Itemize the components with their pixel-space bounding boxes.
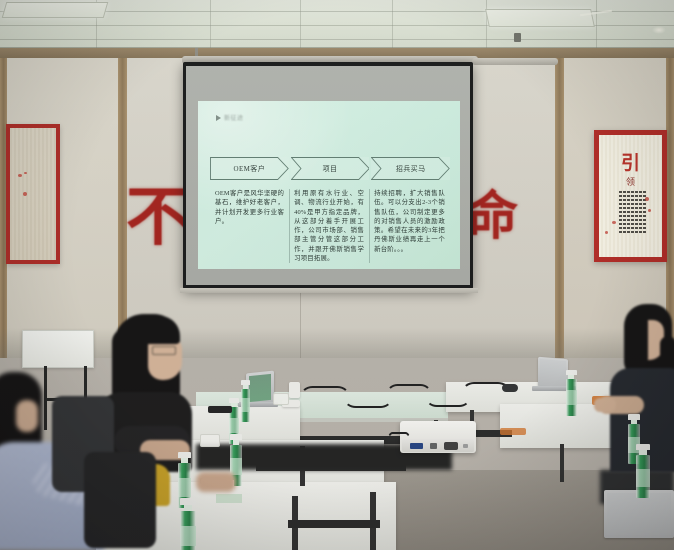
desk-cable-1 (300, 386, 350, 408)
slide-title-row: 新征途 (216, 113, 244, 122)
water-bottle-foreground[interactable] (180, 498, 196, 550)
water-bottle-right-1[interactable] (566, 370, 577, 416)
ceiling-light-right (485, 9, 595, 27)
step-arrow-1-label: OEM客户 (234, 164, 266, 174)
step-arrow-2-label: 项目 (323, 164, 338, 174)
ceiling-tiles (0, 0, 674, 52)
office-chair-back[interactable] (84, 452, 156, 548)
attendee-right-hand (594, 398, 616, 412)
attendee-fg-face (16, 400, 38, 432)
projector-lens (444, 442, 458, 450)
screen-roller-right-extension (472, 58, 558, 65)
attendee-glasses-icon (152, 346, 176, 355)
wall-poster-right: 引 领 (594, 130, 667, 262)
ceiling-light-left (2, 2, 109, 18)
poster-headline: 引 (599, 155, 662, 173)
water-bottle-right-3[interactable] (636, 444, 650, 498)
screen-bottom-tray (180, 288, 478, 293)
desk-cable-3 (386, 384, 432, 406)
orange-mousepad-2 (500, 428, 526, 435)
wall-calligraphy-left: 不 (126, 186, 190, 250)
mouse-right[interactable] (502, 384, 518, 392)
step-arrow-3-label: 招兵买马 (396, 164, 426, 174)
slide-title: 新征途 (224, 113, 244, 122)
water-bottle-back-1[interactable] (241, 380, 250, 422)
slide-column-1-text: OEM客户是风华坚硬的基石，维护好老客户，并计划开发更多行业客户。 (215, 189, 284, 226)
step-arrow-2: 项目 (291, 157, 370, 180)
step-arrow-1: OEM客户 (210, 157, 289, 180)
projection-screen: 新征途 OEM客户 项目 (183, 62, 473, 289)
poster-subtitle: 领 (599, 175, 662, 188)
whiteboard (22, 330, 94, 368)
slide-text-columns: OEM客户是风华坚硬的基石，维护好老客户，并计划开发更多行业客户。 利用原有水行… (210, 189, 450, 263)
table-leg-right-2 (560, 444, 564, 482)
slide-column-3-text: 持续招聘，扩大销售队伍。可以分支出2-3个销售队伍，公司制定更多的对销售人员的激… (374, 189, 445, 254)
step-arrow-3: 招兵买马 (371, 157, 450, 180)
wall-frame-left (6, 124, 60, 264)
slide-column-2-text: 利用原有水行业、空调、物流行业开始，有40%是甲方指定品牌，从这部分着手开展工作… (294, 189, 364, 263)
slide-column-3: 持续招聘，扩大销售队伍。可以分支出2-3个销售队伍，公司制定更多的对销售人员的激… (369, 189, 450, 263)
wall-column-mid-right (555, 58, 564, 358)
projector-power-cable (386, 432, 412, 462)
slide-column-1: OEM客户是风华坚硬的基石，维护好老客户，并计划开发更多行业客户。 (210, 189, 289, 263)
desk-cable-2 (344, 390, 392, 408)
attendee-hand-holding-phone (196, 472, 236, 492)
laptop-right-1[interactable] (538, 357, 568, 390)
slide-column-2: 利用原有水行业、空调、物流行业开始，有40%是甲方指定品牌，从这部分着手开展工作… (289, 189, 369, 263)
notepad-right (216, 494, 242, 503)
paper-cup-front (200, 434, 220, 447)
ceiling-sensor-icon (514, 33, 521, 42)
table-rail-front (288, 520, 380, 528)
room-photo: 引 领 不 命 新征途 (0, 0, 674, 550)
poster-body-text (616, 191, 646, 233)
play-triangle-icon (216, 115, 221, 121)
power-adapter (289, 382, 300, 398)
slide-content: 新征途 OEM客户 项目 (198, 101, 460, 269)
laptop-center-screen (249, 374, 271, 402)
paper-cup-back (273, 393, 289, 405)
smartphone[interactable] (208, 406, 232, 413)
slide-step-arrows: OEM客户 项目 招兵买马 (210, 157, 450, 180)
wall-calligraphy-right: 命 (466, 192, 518, 244)
laptop-center[interactable] (246, 371, 274, 406)
